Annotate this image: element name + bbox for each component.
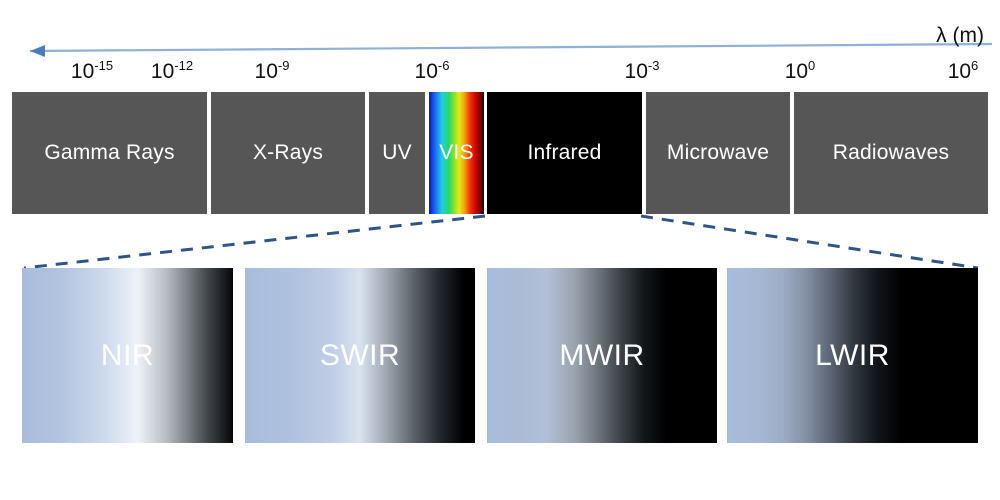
axis-unit-label: λ (m) bbox=[936, 24, 984, 48]
axis-tick-label: 10-9 bbox=[255, 60, 290, 84]
axis-line bbox=[30, 44, 992, 51]
spectrum-band-label: Infrared bbox=[528, 141, 602, 165]
tick-mantissa: 10 bbox=[255, 60, 278, 83]
callout-dashed-line bbox=[24, 216, 485, 268]
spectrum-band-label: UV bbox=[382, 141, 412, 165]
nir-panel[interactable]: NIR bbox=[22, 268, 233, 443]
tick-exponent: -6 bbox=[438, 58, 450, 73]
tick-exponent: -15 bbox=[94, 58, 113, 73]
tick-mantissa: 10 bbox=[71, 60, 94, 83]
axis-tick-label: 10-6 bbox=[415, 60, 450, 84]
ir-panel-label: MWIR bbox=[559, 339, 644, 373]
tick-exponent: -9 bbox=[278, 58, 290, 73]
swir-panel[interactable]: SWIR bbox=[245, 268, 475, 443]
spectrum-band-label: X-Rays bbox=[253, 141, 323, 165]
ir-panel-label: LWIR bbox=[815, 339, 890, 373]
spectrum-bar: Gamma RaysX-RaysUVVISInfraredMicrowaveRa… bbox=[12, 92, 988, 214]
tick-mantissa: 10 bbox=[415, 60, 438, 83]
spectrum-band-label: Gamma Rays bbox=[44, 141, 174, 165]
axis-tick-label: 10-12 bbox=[151, 60, 193, 84]
axis-arrow-left-icon bbox=[30, 45, 45, 57]
axis-tick-label: 100 bbox=[785, 60, 816, 84]
callout-dashed-line bbox=[641, 216, 978, 268]
tick-mantissa: 10 bbox=[785, 60, 808, 83]
tick-mantissa: 10 bbox=[948, 60, 971, 83]
tick-exponent: 6 bbox=[971, 58, 978, 73]
ir-panel-label: SWIR bbox=[320, 339, 400, 373]
spectrum-band-x-rays[interactable]: X-Rays bbox=[211, 92, 365, 214]
spectrum-band-infrared[interactable]: Infrared bbox=[487, 92, 642, 214]
spectrum-band-label: VIS bbox=[439, 141, 473, 165]
electromagnetic-spectrum-figure: λ (m) 10-1510-1210-910-610-3100106 Gamma… bbox=[0, 0, 1000, 500]
tick-mantissa: 10 bbox=[625, 60, 648, 83]
mwir-panel[interactable]: MWIR bbox=[487, 268, 717, 443]
spectrum-band-visible[interactable]: VIS bbox=[429, 92, 484, 214]
callout-dashed-lines bbox=[24, 216, 978, 268]
tick-exponent: -12 bbox=[174, 58, 193, 73]
ir-panel-label: NIR bbox=[101, 339, 154, 373]
lwir-panel[interactable]: LWIR bbox=[727, 268, 978, 443]
axis-tick-label: 106 bbox=[948, 60, 979, 84]
axis-tick-label: 10-15 bbox=[71, 60, 113, 84]
spectrum-band-microwave[interactable]: Microwave bbox=[646, 92, 790, 214]
tick-exponent: 0 bbox=[808, 58, 815, 73]
wavelength-axis-line bbox=[30, 44, 992, 57]
axis-tick-label: 10-3 bbox=[625, 60, 660, 84]
spectrum-band-radiowaves[interactable]: Radiowaves bbox=[794, 92, 988, 214]
tick-mantissa: 10 bbox=[151, 60, 174, 83]
spectrum-band-label: Radiowaves bbox=[833, 141, 949, 165]
tick-exponent: -3 bbox=[648, 58, 660, 73]
spectrum-band-ultraviolet[interactable]: UV bbox=[369, 92, 425, 214]
spectrum-band-label: Microwave bbox=[667, 141, 769, 165]
spectrum-band-gamma-rays[interactable]: Gamma Rays bbox=[12, 92, 207, 214]
